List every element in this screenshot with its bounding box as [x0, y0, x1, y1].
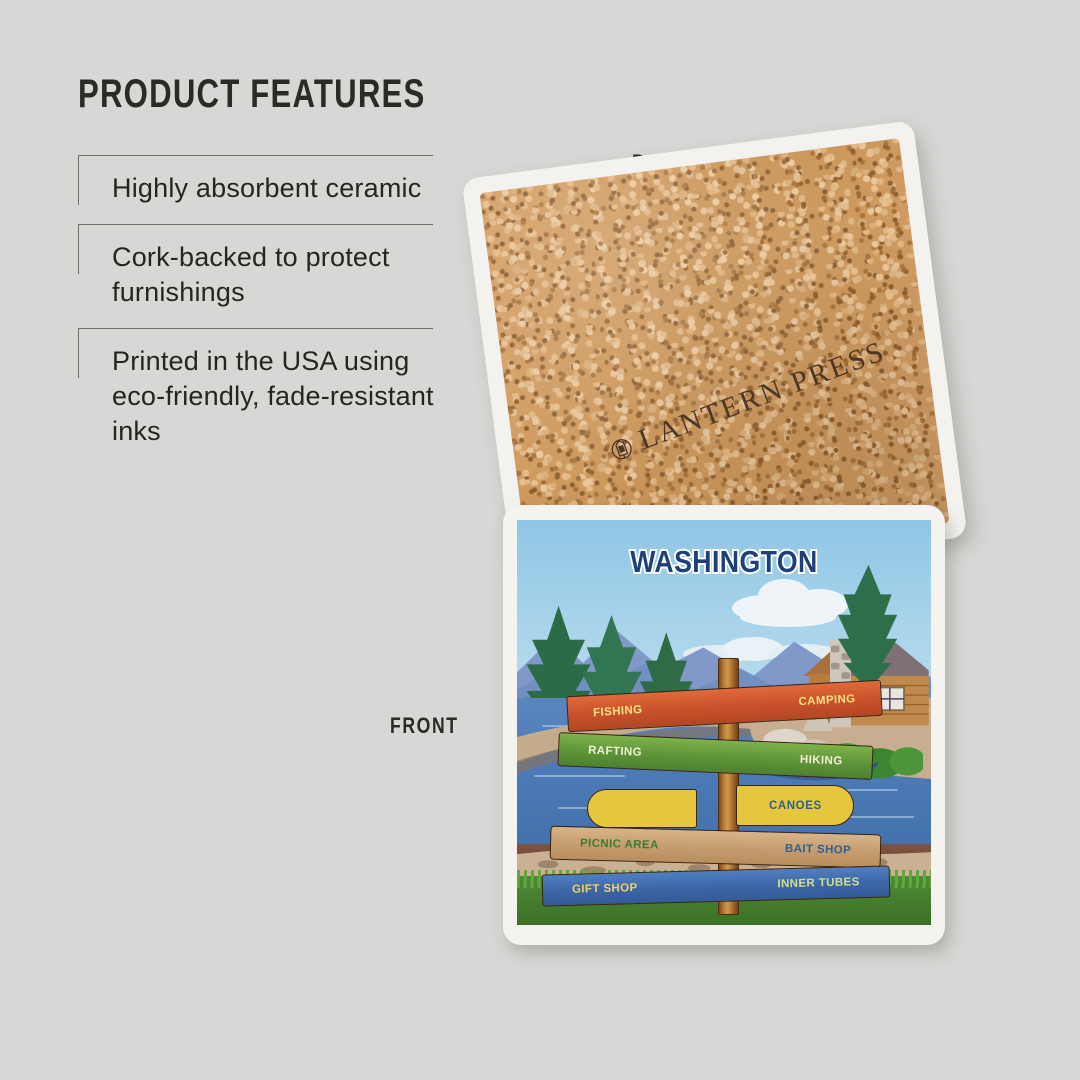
feature-item-1: Highly absorbent ceramic	[78, 155, 478, 206]
product-features-panel: PRODUCT FEATURES Highly absorbent cerami…	[78, 72, 478, 467]
sign-label-left: RAFTING	[588, 744, 642, 758]
feature-tick	[78, 155, 79, 205]
sign-label-left: GIFT SHOP	[572, 883, 638, 897]
feature-tick	[78, 328, 79, 378]
sign-canoes: CANOES	[736, 785, 854, 825]
feature-item-2: Cork-backed to protect furnishings	[78, 224, 478, 310]
artwork-canvas: FISHING CAMPING RAFTING HIKING CANOES PI…	[517, 520, 931, 925]
feature-text: Highly absorbent ceramic	[112, 155, 442, 206]
feature-divider	[78, 155, 433, 156]
page-title: PRODUCT FEATURES	[78, 72, 390, 117]
feature-divider	[78, 328, 433, 329]
sign-label-left: FISHING	[592, 704, 642, 719]
lantern-icon	[607, 433, 637, 465]
brand-name: LANTERN PRESS	[635, 335, 891, 457]
label-front: FRONT	[390, 713, 459, 739]
brand-stamp: LANTERN PRESS	[605, 335, 890, 468]
sign-label-left: PICNIC AREA	[580, 837, 659, 851]
feature-tick	[78, 224, 79, 274]
sign-label-right: CAMPING	[798, 693, 856, 708]
sign-label-right: BAIT SHOP	[785, 843, 852, 857]
sign-label-right: CANOES	[769, 800, 822, 812]
feature-divider	[78, 224, 433, 225]
feature-text: Cork-backed to protect furnishings	[112, 224, 442, 310]
screenshot-stage: PRODUCT FEATURES Highly absorbent cerami…	[0, 0, 1080, 1080]
coaster-front: FISHING CAMPING RAFTING HIKING CANOES PI…	[503, 505, 945, 945]
feature-item-3: Printed in the USA using eco-friendly, f…	[78, 328, 478, 449]
sign-paddle-blank	[587, 789, 697, 827]
sign-label-right: INNER TUBES	[777, 877, 860, 891]
feature-text: Printed in the USA using eco-friendly, f…	[112, 328, 442, 449]
sign-label-right: HIKING	[800, 754, 843, 768]
artwork-title: WASHINGTON	[546, 544, 902, 580]
